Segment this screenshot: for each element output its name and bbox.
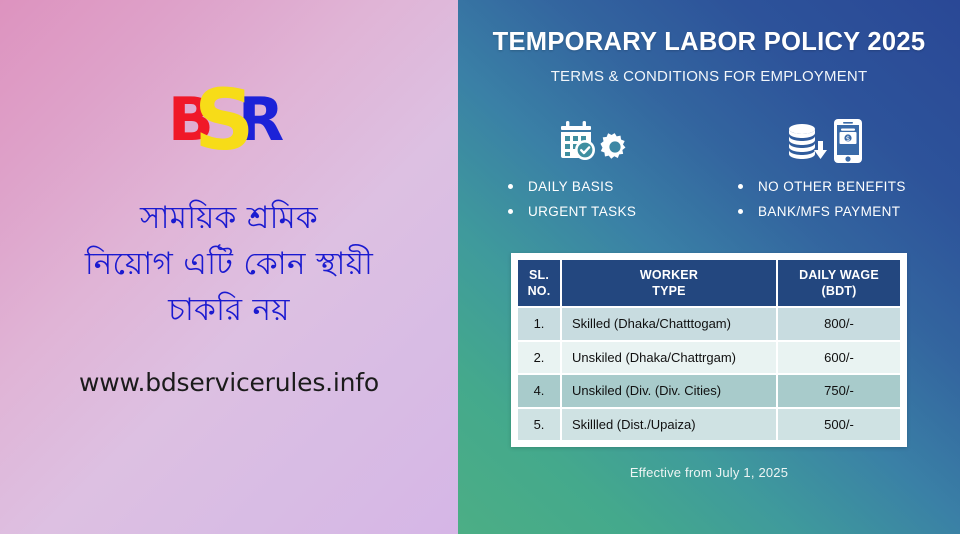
- column-header-daily-wage: DAILY WAGE (BDT): [778, 260, 900, 306]
- wage-table-frame: SL. NO. WORKER TYPE DAILY WAGE (BDT): [511, 253, 907, 447]
- bullet-label: URGENT TASKS: [528, 204, 636, 219]
- mobile-payment-icon: $: [833, 118, 863, 164]
- logo-letter-s: S: [194, 78, 255, 162]
- effective-date-text: Effective from July 1, 2025: [630, 465, 788, 480]
- feature-column-payment: $ NO OTHER BENEFITS BANK/MFS PAYMENT: [724, 112, 924, 229]
- bullet-label: NO OTHER BENEFITS: [758, 179, 906, 194]
- payment-bullet-list: NO OTHER BENEFITS BANK/MFS PAYMENT: [724, 179, 906, 229]
- poster-image: B R S সাময়িক শ্রমিক নিয়োগ এটি কোন স্থা…: [0, 0, 960, 534]
- cell-worker-type: Unskiled (Div. (Div. Cities): [562, 375, 776, 407]
- bullet-dot-icon: [508, 209, 513, 214]
- bangla-headline-line-3: চাকরি নয়: [19, 288, 439, 332]
- bullet-item: DAILY BASIS: [508, 179, 636, 194]
- left-panel: B R S সাময়িক শ্রমিক নিয়োগ এটি কোন স্থা…: [0, 0, 458, 534]
- bullet-item: URGENT TASKS: [508, 204, 636, 219]
- bsr-logo: B R S: [154, 76, 304, 162]
- calendar-check-icon: [557, 120, 601, 164]
- policy-title: TEMPORARY LABOR POLICY 2025: [493, 28, 926, 57]
- sl-header-line-1: SL.: [529, 268, 549, 282]
- sl-header-line-2: NO.: [528, 284, 551, 298]
- table-header-row: SL. NO. WORKER TYPE DAILY WAGE (BDT): [518, 260, 900, 306]
- bangla-headline-line-2: নিয়োগ এটি কোন স্থায়ী: [19, 242, 439, 286]
- feature-column-work: DAILY BASIS URGENT TASKS: [494, 112, 694, 229]
- wage-table-body: 1. Skilled (Dhaka/Chatttogam) 800/- 2. U…: [518, 308, 900, 440]
- cell-daily-wage: 800/-: [778, 308, 900, 340]
- type-header-line-1: WORKER: [640, 268, 698, 282]
- coin-stack-down-arrow-icon: [786, 122, 830, 164]
- cell-sl-no: 2.: [518, 342, 560, 374]
- payment-icon-group: $: [724, 112, 924, 164]
- column-header-sl-no: SL. NO.: [518, 260, 560, 306]
- website-url: www.bdservicerules.info: [79, 368, 379, 397]
- bullet-label: DAILY BASIS: [528, 179, 614, 194]
- cell-sl-no: 4.: [518, 375, 560, 407]
- cell-sl-no: 1.: [518, 308, 560, 340]
- table-row: 5. Skillled (Dist./Upaiza) 500/-: [518, 409, 900, 441]
- svg-text:$: $: [845, 135, 849, 143]
- cell-daily-wage: 750/-: [778, 375, 900, 407]
- right-panel: TEMPORARY LABOR POLICY 2025 TERMS & COND…: [458, 0, 960, 534]
- bullet-label: BANK/MFS PAYMENT: [758, 204, 900, 219]
- wage-table: SL. NO. WORKER TYPE DAILY WAGE (BDT): [516, 258, 902, 442]
- policy-subtitle: TERMS & CONDITIONS FOR EMPLOYMENT: [551, 68, 868, 85]
- cell-daily-wage: 600/-: [778, 342, 900, 374]
- work-bullet-list: DAILY BASIS URGENT TASKS: [494, 179, 636, 229]
- work-icon-group: [494, 112, 694, 164]
- cell-sl-no: 5.: [518, 409, 560, 441]
- cell-worker-type: Skilled (Dhaka/Chatttogam): [562, 308, 776, 340]
- table-row: 1. Skilled (Dhaka/Chatttogam) 800/-: [518, 308, 900, 340]
- bullet-dot-icon: [508, 184, 513, 189]
- gear-icon: [598, 130, 632, 164]
- bullet-dot-icon: [738, 184, 743, 189]
- bullet-item: NO OTHER BENEFITS: [738, 179, 906, 194]
- cell-daily-wage: 500/-: [778, 409, 900, 441]
- bangla-headline: সাময়িক শ্রমিক নিয়োগ এটি কোন স্থায়ী চা…: [19, 196, 439, 334]
- wage-table-head: SL. NO. WORKER TYPE DAILY WAGE (BDT): [518, 260, 900, 306]
- wage-header-line-1: DAILY WAGE: [799, 268, 879, 282]
- wage-header-line-2: (BDT): [821, 284, 856, 298]
- bangla-headline-line-1: সাময়িক শ্রমিক: [19, 196, 439, 240]
- table-row: 2. Unskiled (Dhaka/Chattrgam) 600/-: [518, 342, 900, 374]
- cell-worker-type: Skillled (Dist./Upaiza): [562, 409, 776, 441]
- type-header-line-2: TYPE: [652, 284, 685, 298]
- feature-columns: DAILY BASIS URGENT TASKS: [494, 112, 924, 229]
- bullet-item: BANK/MFS PAYMENT: [738, 204, 906, 219]
- table-row: 4. Unskiled (Div. (Div. Cities) 750/-: [518, 375, 900, 407]
- bullet-dot-icon: [738, 209, 743, 214]
- cell-worker-type: Unskiled (Dhaka/Chattrgam): [562, 342, 776, 374]
- column-header-worker-type: WORKER TYPE: [562, 260, 776, 306]
